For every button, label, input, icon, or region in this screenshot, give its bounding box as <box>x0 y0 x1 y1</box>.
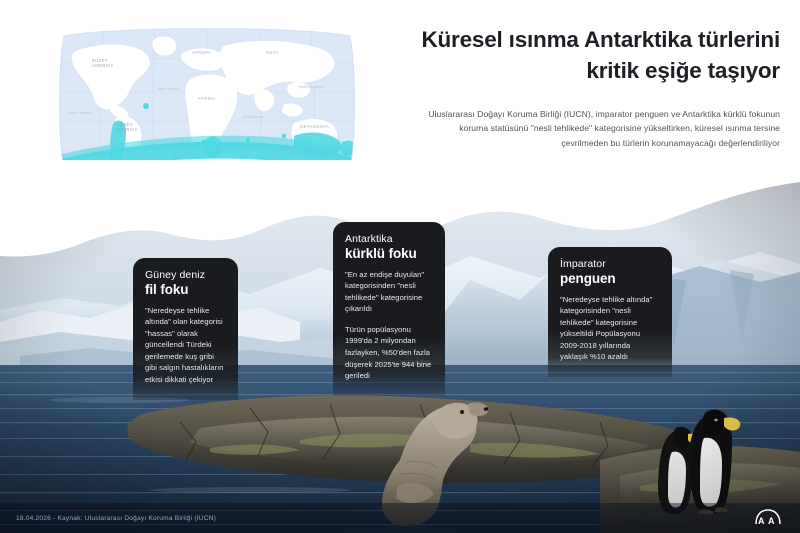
map-label-pacific: Pasifik Okyanusu <box>68 111 93 115</box>
headline-line-2: kritik eşiğe taşıyor <box>380 55 780 86</box>
map-label-asia: ASYA <box>266 50 279 55</box>
svg-text:A: A <box>768 516 775 526</box>
subtitle: Uluslararası Doğayı Koruma Birliği (IUCN… <box>412 107 780 150</box>
card-kicker: Antarktika <box>345 233 433 246</box>
card-paragraph: "Neredeyse tehlike altında" olan kategor… <box>145 305 226 386</box>
infographic-root: KUZEY AMERİKA GÜNEY AMERİKA AVRUPA ASYA … <box>0 0 800 533</box>
map-label-pacific-2: Pasifik Okyanusu <box>298 85 323 89</box>
map-label-north-america-2: AMERİKA <box>92 63 114 68</box>
card-kicker: Güney deniz <box>145 269 226 282</box>
map-label-south-america-2: AMERİKA <box>116 127 138 132</box>
card-title: kürklü foku <box>345 246 433 262</box>
info-card-antarctic-fur-seal: Antarktika kürklü foku "En az endişe duy… <box>333 222 445 396</box>
headline-line-1: Küresel ısınma Antarktika türlerini <box>380 24 780 55</box>
page-title: Küresel ısınma Antarktika türlerini krit… <box>380 24 780 86</box>
aa-logo: A A <box>750 505 786 527</box>
footer-source-text: 18.04.2026 - Kaynak: Uluslararası Doğayı… <box>16 515 216 522</box>
card-paragraph-2: Türün popülasyonu 1999'da 2 milyondan fa… <box>345 324 433 382</box>
map-label-europe: AVRUPA <box>192 50 211 55</box>
svg-text:A: A <box>758 516 765 526</box>
card-kicker: İmparator <box>560 258 660 271</box>
card-paragraph: "Neredeyse tehlike altında" kategorisind… <box>560 294 660 364</box>
footer: 18.04.2026 - Kaynak: Uluslararası Doğayı… <box>0 503 800 533</box>
info-card-southern-elephant-seal: Güney deniz fil foku "Neredeyse tehlike … <box>133 258 238 400</box>
map-label-indian: Hint Okyanusu <box>242 115 263 119</box>
map-label-atlantic: Atlas Okyanusu <box>157 87 181 91</box>
map-label-africa: AFRİKA <box>198 96 216 101</box>
card-title: penguen <box>560 271 660 287</box>
card-paragraph: "En az endişe duyulan" kategorisinden "n… <box>345 269 433 315</box>
card-title: fil foku <box>145 282 226 298</box>
info-card-emperor-penguin: İmparator penguen "Neredeyse tehlike alt… <box>548 247 672 377</box>
map-label-oceania: OKYANUSYA <box>300 124 329 129</box>
